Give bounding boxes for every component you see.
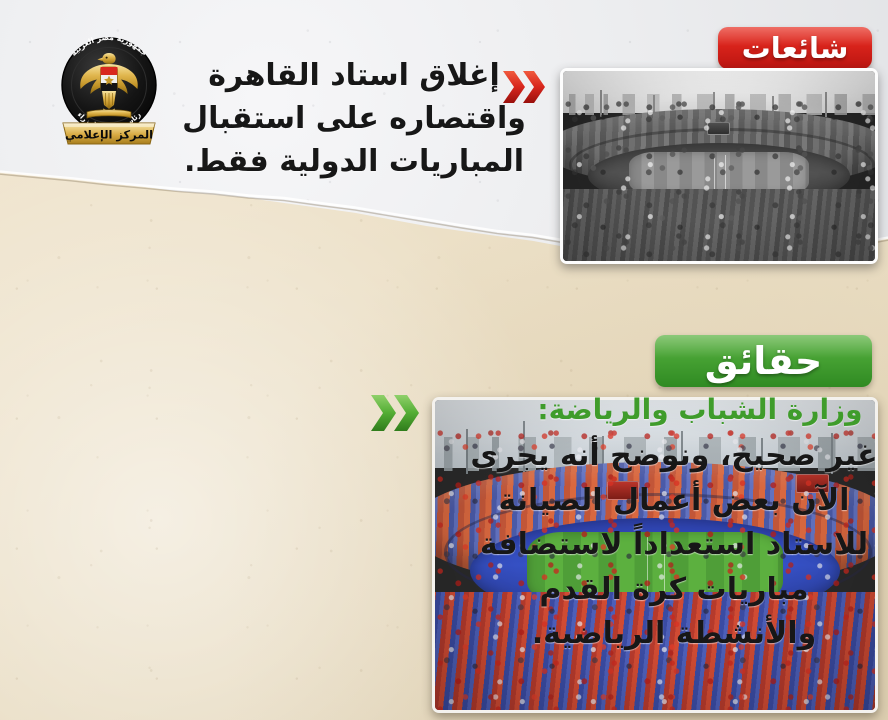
fact-text: غير صحيح، ونوضح أنه يجرى الآن بعض أعمال … xyxy=(468,434,880,656)
logo-ribbon-text: المركز الإعلامي xyxy=(65,127,153,141)
rumors-banner: شائعات xyxy=(718,27,872,69)
double-chevron-left-icon-green xyxy=(369,393,421,433)
fact-text-block: وزارة الشباب والرياضة: غير صحيح، ونوضح أ… xyxy=(468,392,880,656)
logo-ribbon: المركز الإعلامي xyxy=(63,123,155,144)
fact-heading: وزارة الشباب والرياضة: xyxy=(468,392,880,428)
fact-check-poster: جمهورية مصر العربية رئاسة مجلس الوزراء xyxy=(0,0,888,720)
rumors-banner-label: شائعات xyxy=(742,31,849,65)
crowd xyxy=(563,71,875,261)
facts-banner: حقائق xyxy=(655,335,872,387)
rumor-text: إغلاق استاد القاهرة واقتصاره على استقبال… xyxy=(178,55,530,184)
facts-banner-label: حقائق xyxy=(705,339,823,383)
rumor-stadium-photo xyxy=(560,68,878,264)
egypt-cabinet-media-center-logo: جمهورية مصر العربية رئاسة مجلس الوزراء xyxy=(47,23,171,151)
